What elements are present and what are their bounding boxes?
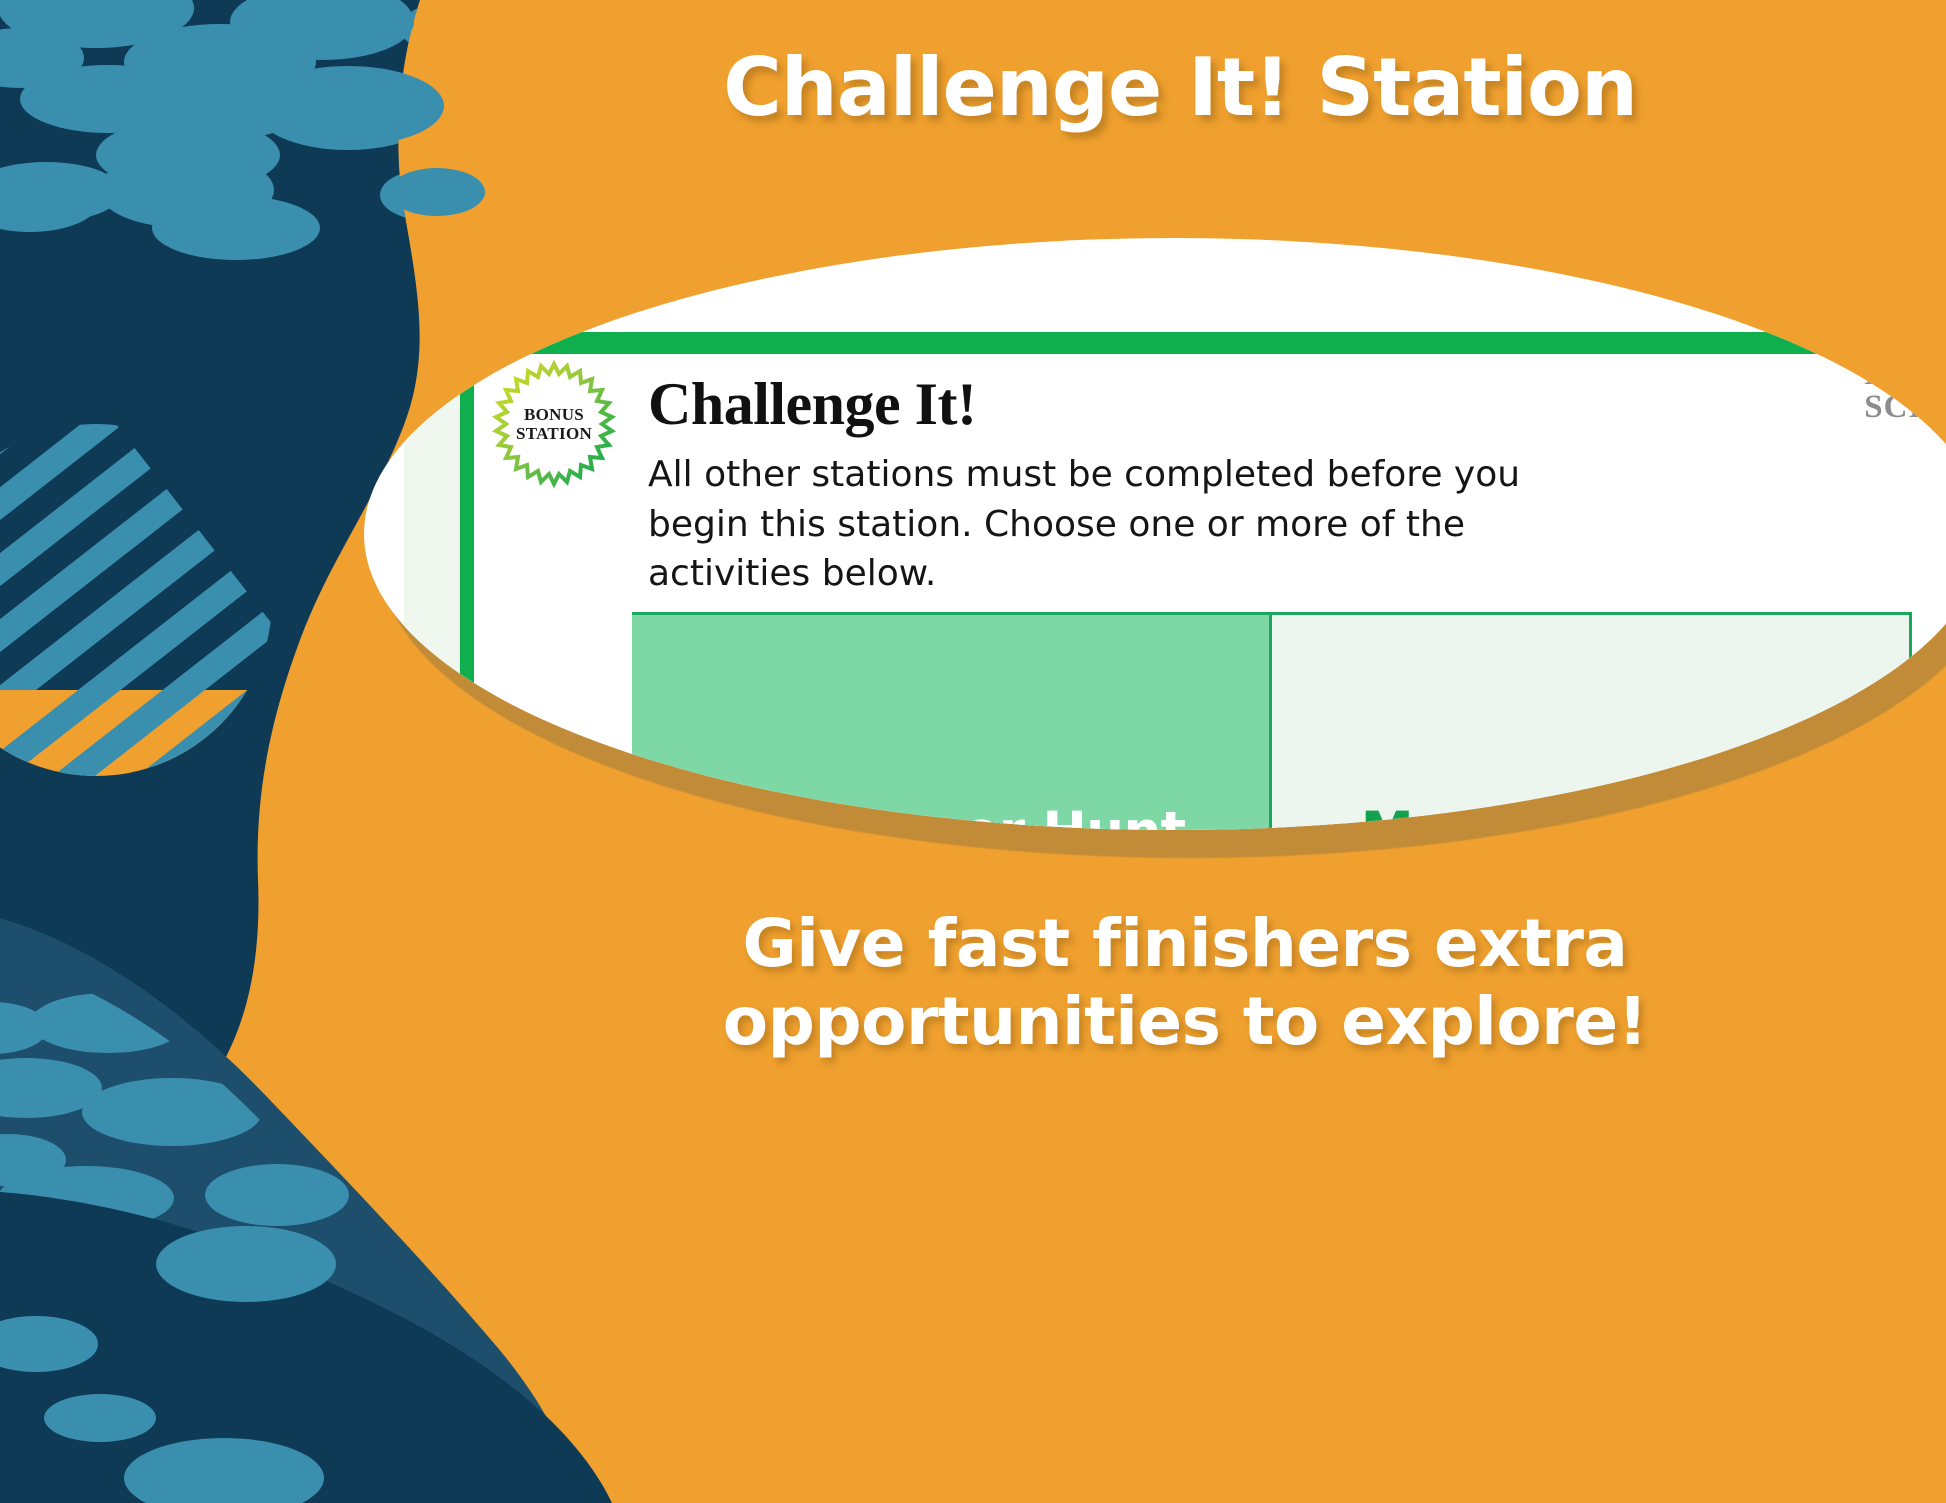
instructions-line-3: activities below. xyxy=(648,549,1548,599)
worksheet-top-border xyxy=(460,332,1946,354)
activities-table: Scavenger Hunt Matching Game xyxy=(632,612,1912,830)
instructions-line-1: All other stations must be completed bef… xyxy=(648,450,1548,500)
bonus-station-badge-text: BONUS STATION xyxy=(490,360,618,488)
kesler-science-logo: KESLER SCIENCE xyxy=(1864,358,1946,424)
bottom-left-navy-blob-front xyxy=(0,1192,612,1503)
worksheet-heading: Challenge It! xyxy=(648,374,976,434)
logo-line-1: KESLER xyxy=(1864,358,1946,391)
bonus-station-badge: BONUS STATION xyxy=(490,360,618,488)
instructions-line-2: begin this station. Choose one or more o… xyxy=(648,500,1548,550)
worksheet-preview[interactable]: BONUS STATION Challenge It! All other st… xyxy=(364,238,1946,830)
subtitle-line-2: opportunities to explore! xyxy=(470,983,1900,1061)
activity-cell-matching-game[interactable]: Matching Game xyxy=(1272,615,1912,830)
page-subtitle: Give fast finishers extra opportunities … xyxy=(470,905,1900,1061)
subtitle-line-1: Give fast finishers extra xyxy=(743,905,1628,982)
worksheet-left-border xyxy=(460,332,474,830)
badge-line-2: STATION xyxy=(516,424,592,443)
scavenger-hunt-link[interactable]: Scavenger Hunt xyxy=(715,802,1185,830)
worksheet-instructions: All other stations must be completed bef… xyxy=(648,450,1548,599)
page-title: Challenge It! Station xyxy=(460,48,1900,128)
badge-line-1: BONUS xyxy=(524,405,584,424)
activity-cell-scavenger-hunt[interactable]: Scavenger Hunt xyxy=(632,615,1272,830)
matching-game-link[interactable]: Matching Game xyxy=(1361,802,1820,830)
logo-line-2: SCIENCE xyxy=(1864,391,1946,424)
floating-dot xyxy=(205,1164,349,1226)
